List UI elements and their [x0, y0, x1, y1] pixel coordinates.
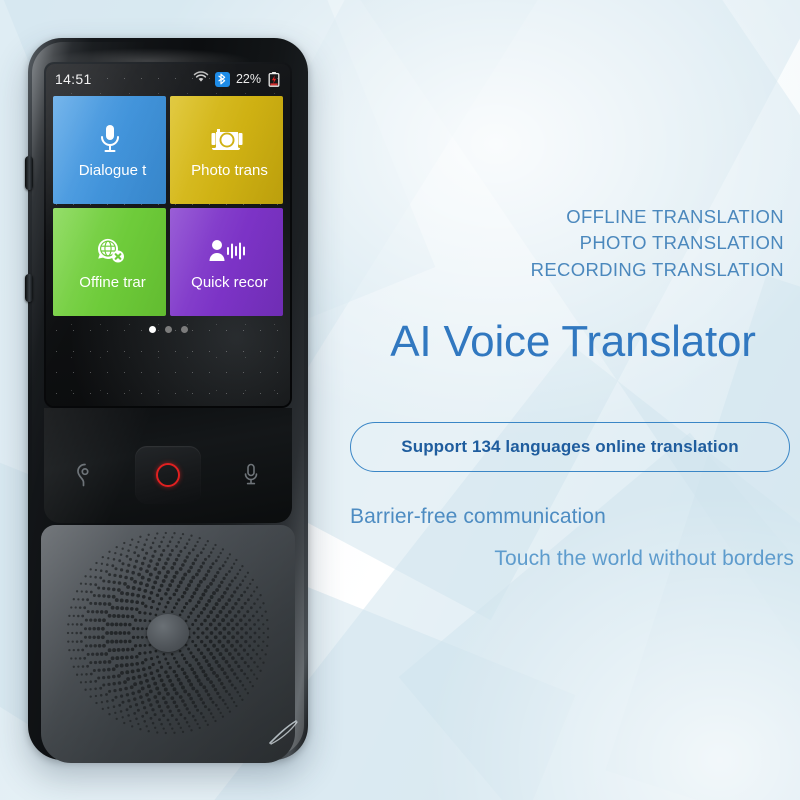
tile-label: Photo trans [170, 163, 283, 178]
page-dot-2[interactable] [165, 326, 172, 333]
tile-label: Offine trar [53, 275, 166, 290]
earpiece-button[interactable] [44, 442, 127, 508]
app-tile-grid: Dialogue t Photo trans [53, 96, 283, 316]
volume-button[interactable] [25, 156, 33, 190]
feature-item: RECORDING TRANSLATION [531, 257, 784, 283]
page-indicator [46, 326, 290, 333]
battery-percent-label: 22% [236, 72, 261, 86]
camera-icon [210, 122, 244, 156]
status-bar: 14:51 22% [46, 64, 290, 94]
record-button[interactable] [127, 442, 210, 508]
tile-photo-translation[interactable]: Photo trans [170, 96, 283, 204]
feature-item: PHOTO TRANSLATION [531, 230, 784, 256]
battery-charging-icon [267, 72, 281, 87]
wifi-icon [193, 70, 209, 88]
record-ring-icon [156, 463, 180, 487]
bluetooth-icon [215, 72, 230, 87]
tile-label: Dialogue t [53, 163, 166, 178]
page-title: AI Voice Translator [346, 320, 800, 364]
support-languages-label: Support 134 languages online translation [401, 437, 738, 457]
tile-label: Quick recor [170, 275, 283, 290]
lanyard-loop [266, 716, 302, 746]
microphone-icon [98, 122, 122, 156]
tile-dialogue-translation[interactable]: Dialogue t [53, 96, 166, 204]
support-languages-badge: Support 134 languages online translation [350, 422, 790, 472]
tagline-primary: Barrier-free communication [350, 505, 606, 529]
hardware-button-row [44, 442, 292, 508]
page-dot-3[interactable] [181, 326, 188, 333]
feature-item: OFFLINE TRANSLATION [531, 204, 784, 230]
tagline-secondary: Touch the world without borders [340, 547, 794, 571]
speaker-dome [147, 614, 189, 652]
feature-list: OFFLINE TRANSLATION PHOTO TRANSLATION RE… [531, 204, 784, 283]
device-screen[interactable]: 14:51 22% [46, 64, 290, 406]
ai-voice-translator-device: 14:51 22% [28, 38, 308, 760]
marketing-copy: OFFLINE TRANSLATION PHOTO TRANSLATION RE… [340, 0, 800, 800]
status-bar-clock: 14:51 [55, 71, 92, 87]
page-dot-1[interactable] [149, 326, 156, 333]
tile-quick-recording[interactable]: Quick recor [170, 208, 283, 316]
tile-offline-translation[interactable]: Offine trar [53, 208, 166, 316]
speaker-plate [41, 525, 295, 763]
globe-offline-icon [94, 234, 126, 268]
power-button[interactable] [25, 274, 33, 302]
record-button-pad[interactable] [135, 446, 201, 504]
microphone-button[interactable] [209, 442, 292, 508]
voice-recording-icon [208, 234, 246, 268]
